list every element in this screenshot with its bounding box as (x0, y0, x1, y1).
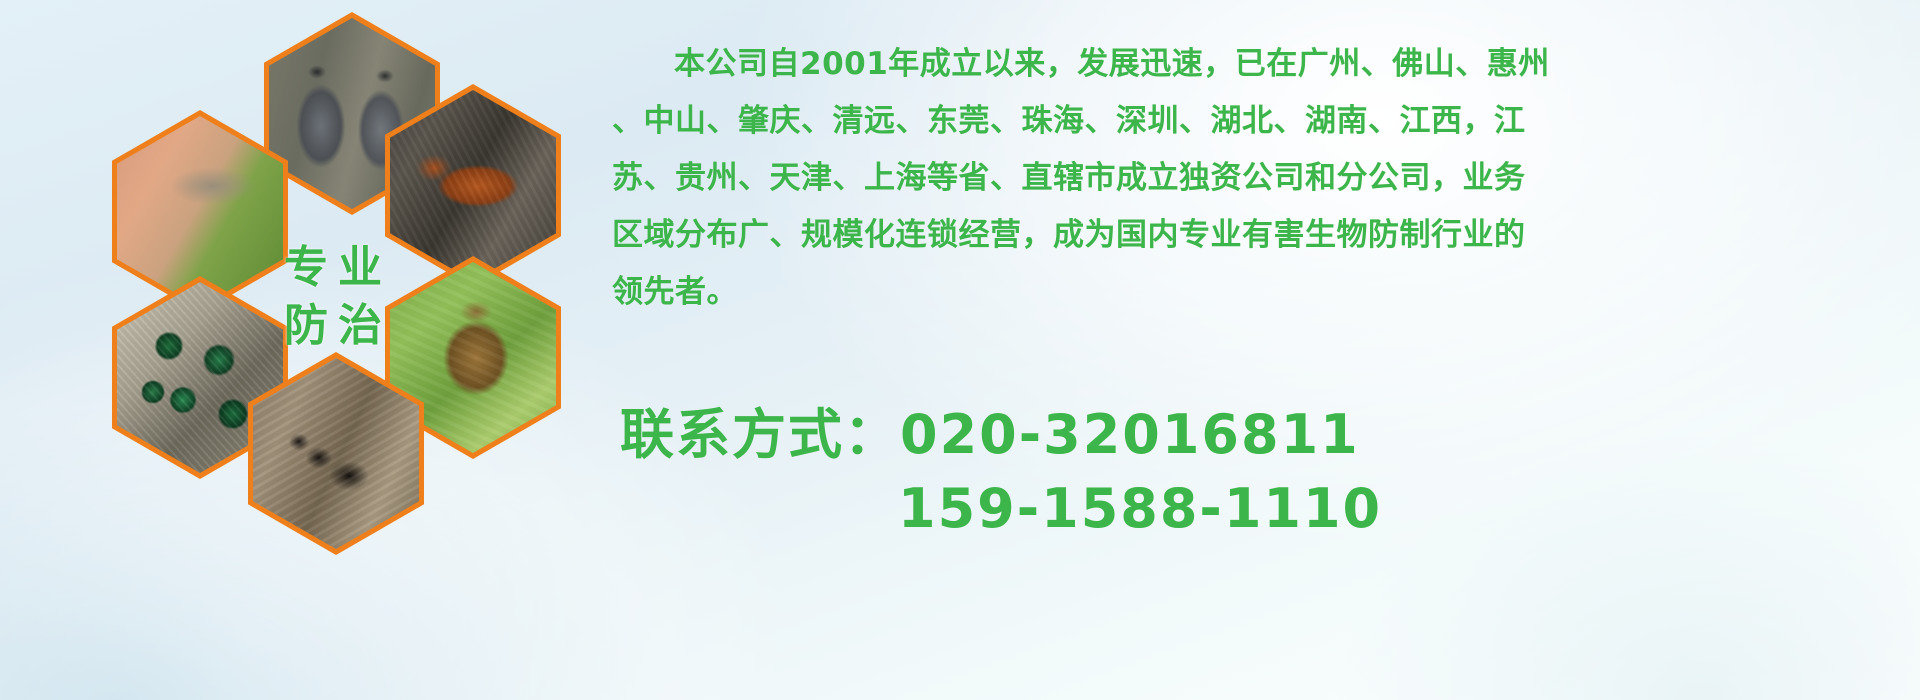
intro-line-4: 区域分布广、规模化连锁经营，成为国内专业有害生物防制行业的 (612, 207, 1912, 264)
content-column: 本公司自2001年成立以来，发展迅速，已在广州、佛山、惠州 、中山、肇庆、清远、… (612, 0, 1920, 700)
honeycomb-logo-cluster: 专业 防治 (0, 0, 640, 700)
intro-line-2: 、中山、肇庆、清远、东莞、珠海、深圳、湖北、湖南、江西，江 (612, 93, 1912, 150)
intro-line-5: 领先者。 (612, 264, 1912, 321)
intro-line-1: 本公司自2001年成立以来，发展迅速，已在广州、佛山、惠州 (612, 36, 1912, 93)
contact-phone-landline[interactable]: 联系方式：020-32016811 (620, 398, 1920, 472)
company-intro-paragraph: 本公司自2001年成立以来，发展迅速，已在广州、佛山、惠州 、中山、肇庆、清远、… (612, 36, 1912, 321)
slogan-line-1: 专业 (274, 246, 392, 290)
slogan-line-2: 防治 (274, 304, 392, 348)
intro-line-3: 苏、贵州、天津、上海等省、直辖市成立独资公司和分公司，业务 (612, 150, 1912, 207)
promo-banner: 专业 防治 本公司自2001年成立以来，发展迅速，已在广州、佛山、惠州 、中山、… (0, 0, 1920, 700)
contact-block: 联系方式：020-32016811 159-1588-1110 (620, 398, 1920, 546)
contact-phone-mobile[interactable]: 159-1588-1110 (620, 472, 1920, 546)
